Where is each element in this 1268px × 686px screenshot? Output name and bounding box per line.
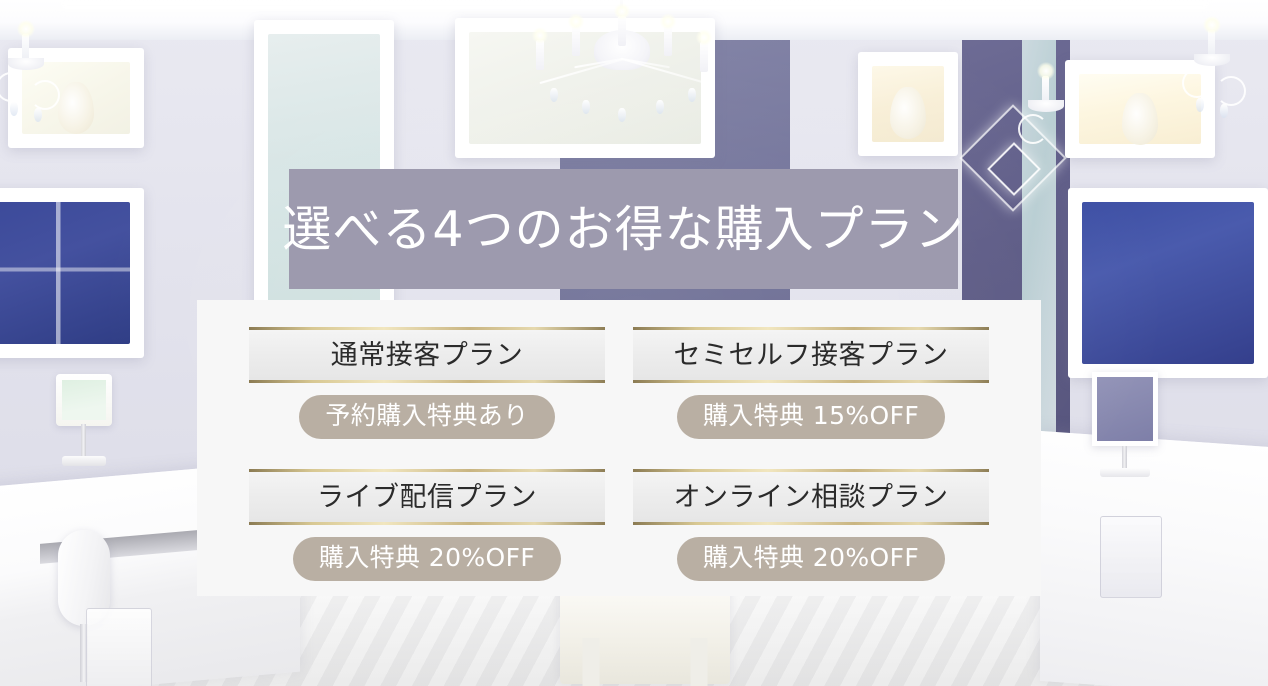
plan-header: オンライン相談プラン xyxy=(633,469,989,525)
sconce-scroll xyxy=(1018,114,1048,144)
plan-name: オンライン相談プラン xyxy=(674,484,949,511)
table-mirror-glass xyxy=(56,374,112,426)
wall-sconce-left-icon xyxy=(0,28,72,138)
sconce-scroll xyxy=(1216,76,1246,106)
vase-display-right xyxy=(1122,93,1158,145)
status-badge: 予約購入特典あり xyxy=(299,395,554,439)
sconce-candle xyxy=(1042,76,1049,102)
table-mirror-glass xyxy=(1092,372,1158,446)
display-screen-right xyxy=(1068,188,1268,378)
sconce-candle xyxy=(1208,30,1215,56)
chandelier-candle xyxy=(536,40,544,70)
chandelier-crystal xyxy=(550,88,558,102)
plan-card-live-streaming[interactable]: ライブ配信プラン 購入特典 20%OFF xyxy=(249,469,605,581)
status-badge: 購入特典 20%OFF xyxy=(677,537,945,581)
plan-badge-row: 購入特典 20%OFF xyxy=(249,537,605,581)
chandelier-candle xyxy=(700,42,708,72)
plan-name: 通常接客プラン xyxy=(331,342,524,369)
storage-bin-left xyxy=(86,608,152,686)
sconce-crystal xyxy=(1220,104,1228,118)
plans-grid: 通常接客プラン 予約購入特典あり セミセルフ接客プラン 購入特典 15%OFF … xyxy=(249,327,989,581)
screen-glass xyxy=(1082,202,1254,364)
plans-panel: 通常接客プラン 予約購入特典あり セミセルフ接客プラン 購入特典 15%OFF … xyxy=(197,300,1041,596)
chandelier-candle xyxy=(618,16,626,46)
status-badge: 購入特典 20%OFF xyxy=(293,537,561,581)
sconce-crystal xyxy=(1196,98,1204,112)
chandelier-candle xyxy=(664,26,672,56)
storage-bin-right xyxy=(1100,516,1162,598)
table-mirror-stem xyxy=(81,424,86,458)
sconce-bowl xyxy=(1028,100,1064,112)
stool-legs xyxy=(574,638,716,686)
wall-sconce-right-icon xyxy=(1180,24,1258,134)
status-badge: 購入特典 15%OFF xyxy=(677,395,945,439)
display-screen-left xyxy=(0,188,144,358)
chandelier-crystal xyxy=(656,100,664,114)
sconce-bowl xyxy=(1194,54,1230,66)
plan-header: 通常接客プラン xyxy=(249,327,605,383)
plan-name: ライブ配信プラン xyxy=(317,484,537,511)
table-mirror-left xyxy=(52,374,116,480)
chandelier-candle xyxy=(572,26,580,56)
promo-banner-screen: 選べる4つのお得な購入プラン 通常接客プラン 予約購入特典あり セミセルフ接客プ… xyxy=(0,0,1268,686)
sconce-crystal xyxy=(34,108,42,122)
chandelier-crystal xyxy=(582,100,590,114)
sconce-bowl xyxy=(8,58,44,70)
chandelier-arm xyxy=(539,58,624,84)
plan-header: ライブ配信プラン xyxy=(249,469,605,525)
table-mirror-right xyxy=(1092,372,1158,484)
sconce-crystal xyxy=(10,102,18,116)
mirror-inner xyxy=(62,380,106,420)
wall-sconce-center-icon xyxy=(1014,70,1092,180)
chandelier-icon xyxy=(516,0,726,164)
plan-header: セミセルフ接客プラン xyxy=(633,327,989,383)
headline-banner: 選べる4つのお得な購入プラン xyxy=(289,169,958,289)
chandelier-crystal xyxy=(618,108,626,122)
plan-name: セミセルフ接客プラン xyxy=(674,342,949,369)
plan-card-semi-self[interactable]: セミセルフ接客プラン 購入特典 15%OFF xyxy=(633,327,989,439)
plan-card-online-consultation[interactable]: オンライン相談プラン 購入特典 20%OFF xyxy=(633,469,989,581)
screen-grid-overlay xyxy=(0,202,130,344)
plan-badge-row: 購入特典 20%OFF xyxy=(633,537,989,581)
table-mirror-base xyxy=(1100,468,1150,477)
sconce-candle xyxy=(22,34,29,60)
plan-card-normal[interactable]: 通常接客プラン 予約購入特典あり xyxy=(249,327,605,439)
table-mirror-base xyxy=(62,456,106,466)
sconce-scroll xyxy=(0,72,26,102)
framed-niche-center-right xyxy=(858,52,958,156)
plan-badge-row: 購入特典 15%OFF xyxy=(633,395,989,439)
table-mirror-stem xyxy=(1122,446,1127,470)
sconce-scroll xyxy=(1182,68,1212,98)
plan-badge-row: 予約購入特典あり xyxy=(249,395,605,439)
page-title: 選べる4つのお得な購入プラン xyxy=(282,205,964,254)
chandelier-crystal xyxy=(688,88,696,102)
sconce-scroll xyxy=(30,80,60,110)
vase-display xyxy=(890,87,926,139)
